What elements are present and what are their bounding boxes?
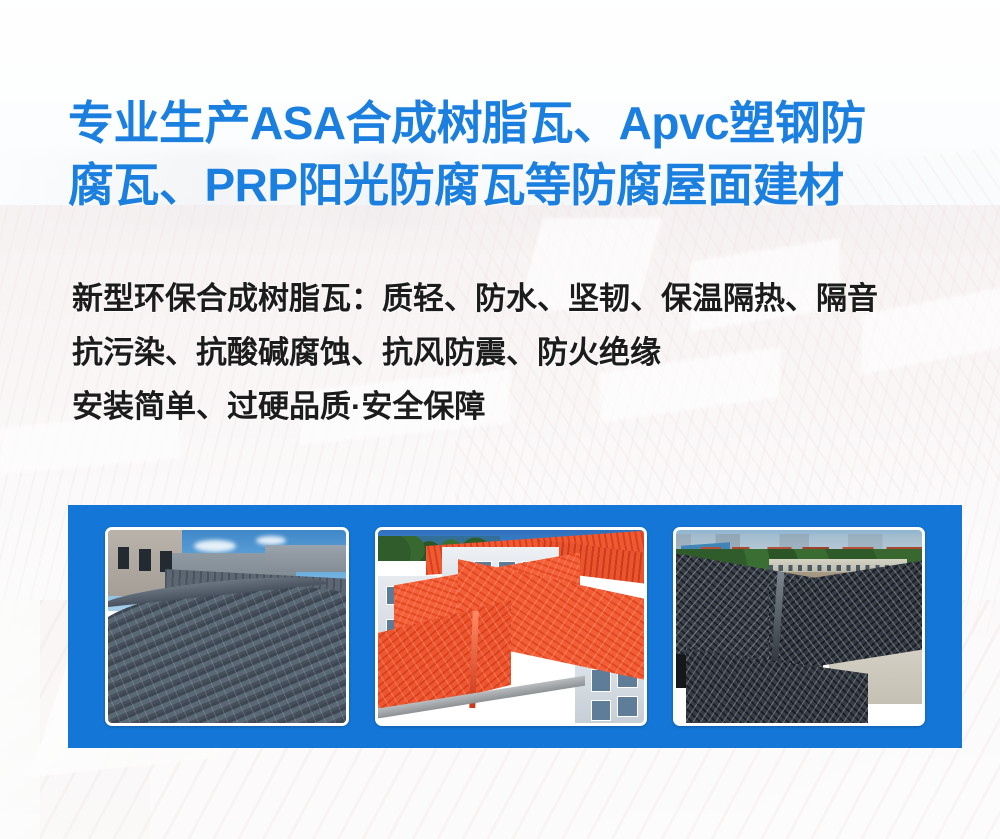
gray-resin-tile-roof-photo[interactable] (105, 527, 349, 726)
cloud (256, 536, 286, 545)
black-resin-tile-roof-photo[interactable] (673, 527, 925, 726)
photo-image (676, 530, 922, 723)
headline-line-2: 腐瓦、PRP阳光防腐瓦等防腐屋面建材 (68, 154, 948, 216)
red-resin-tile-roof-photo[interactable] (375, 527, 647, 726)
headline-line-1: 专业生产ASA合成树脂瓦、Apvc塑钢防 (68, 92, 948, 154)
window (139, 549, 151, 570)
banner-content: 专业生产ASA合成树脂瓦、Apvc塑钢防 腐瓦、PRP阳光防腐瓦等防腐屋面建材 … (0, 0, 1000, 839)
rear-building-far (265, 545, 346, 572)
feature-list: 新型环保合成树脂瓦：质轻、防水、坚韧、保温隔热、隔音 抗污染、抗酸碱腐蚀、抗风防… (72, 272, 972, 434)
window (591, 700, 612, 721)
window (118, 547, 130, 568)
cloud (194, 540, 236, 552)
feature-line-1: 新型环保合成树脂瓦：质轻、防水、坚韧、保温隔热、隔音 (72, 272, 972, 326)
window (591, 669, 612, 692)
photo-image (378, 530, 644, 723)
headline: 专业生产ASA合成树脂瓦、Apvc塑钢防 腐瓦、PRP阳光防腐瓦等防腐屋面建材 (68, 92, 948, 216)
product-banner: 专业生产ASA合成树脂瓦、Apvc塑钢防 腐瓦、PRP阳光防腐瓦等防腐屋面建材 … (0, 0, 1000, 839)
window (617, 696, 638, 717)
photo-gallery-panel (68, 505, 962, 748)
photo-image (108, 530, 346, 723)
feature-line-3: 安装简单、过硬品质·安全保障 (72, 380, 972, 434)
feature-line-2: 抗污染、抗酸碱腐蚀、抗风防震、防火绝缘 (72, 326, 972, 380)
